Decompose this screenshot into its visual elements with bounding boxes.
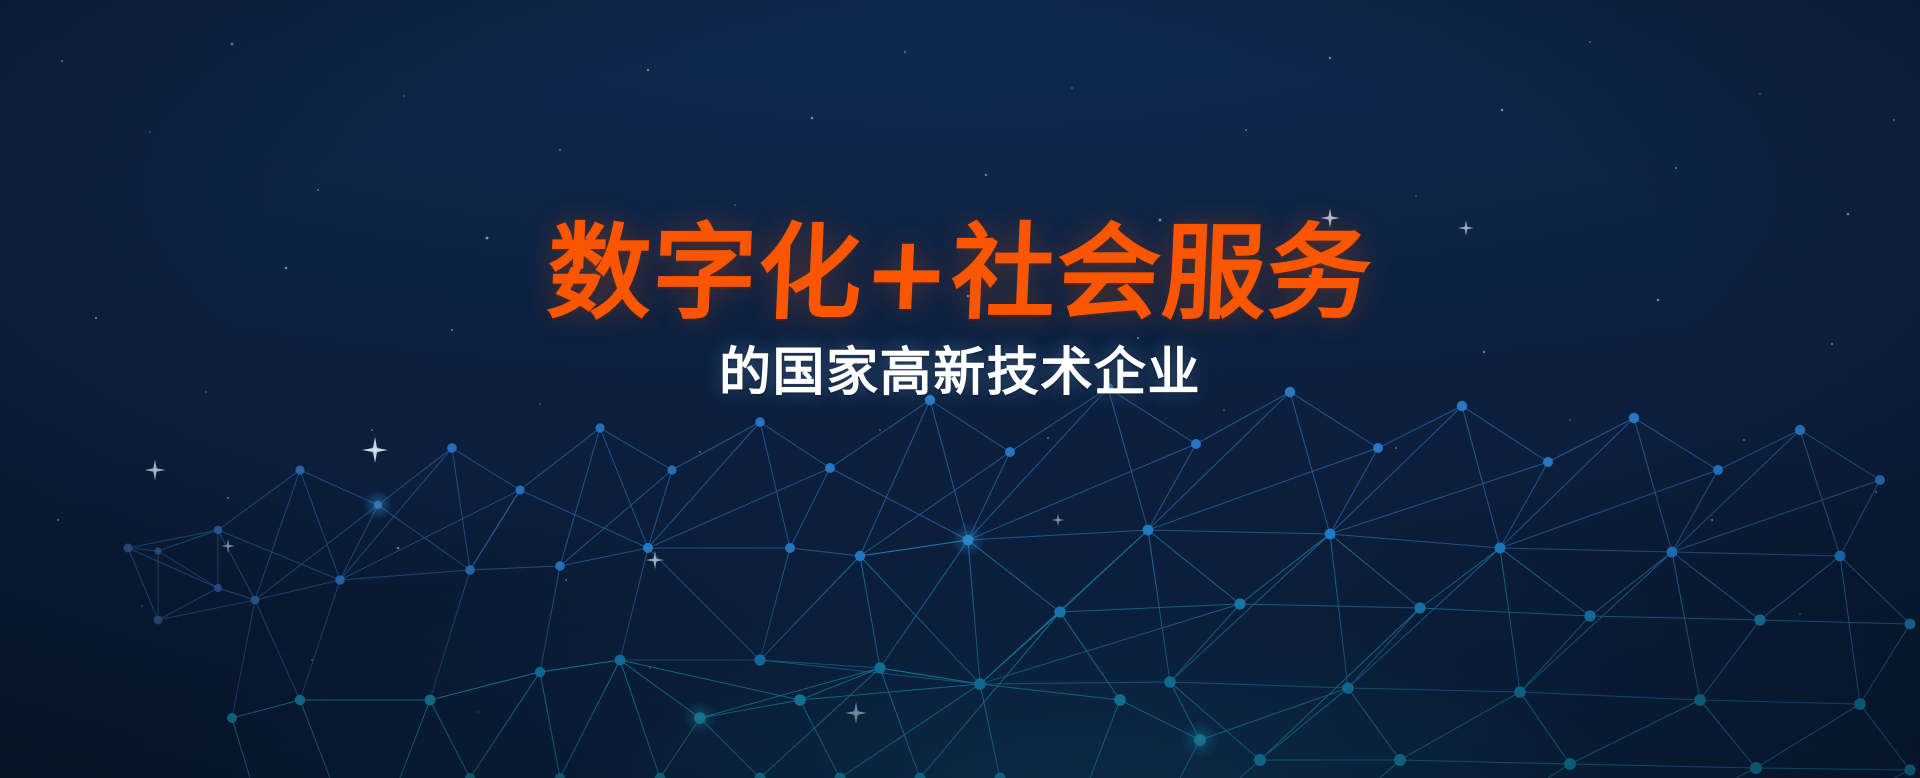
banner-text-block: 数字化+社会服务 的国家高新技术企业 [0,218,1920,401]
banner-headline: 数字化+社会服务 [0,218,1920,328]
banner-subtitle: 的国家高新技术企业 [0,344,1920,401]
hero-banner: 数字化+社会服务 的国家高新技术企业 [0,0,1920,778]
